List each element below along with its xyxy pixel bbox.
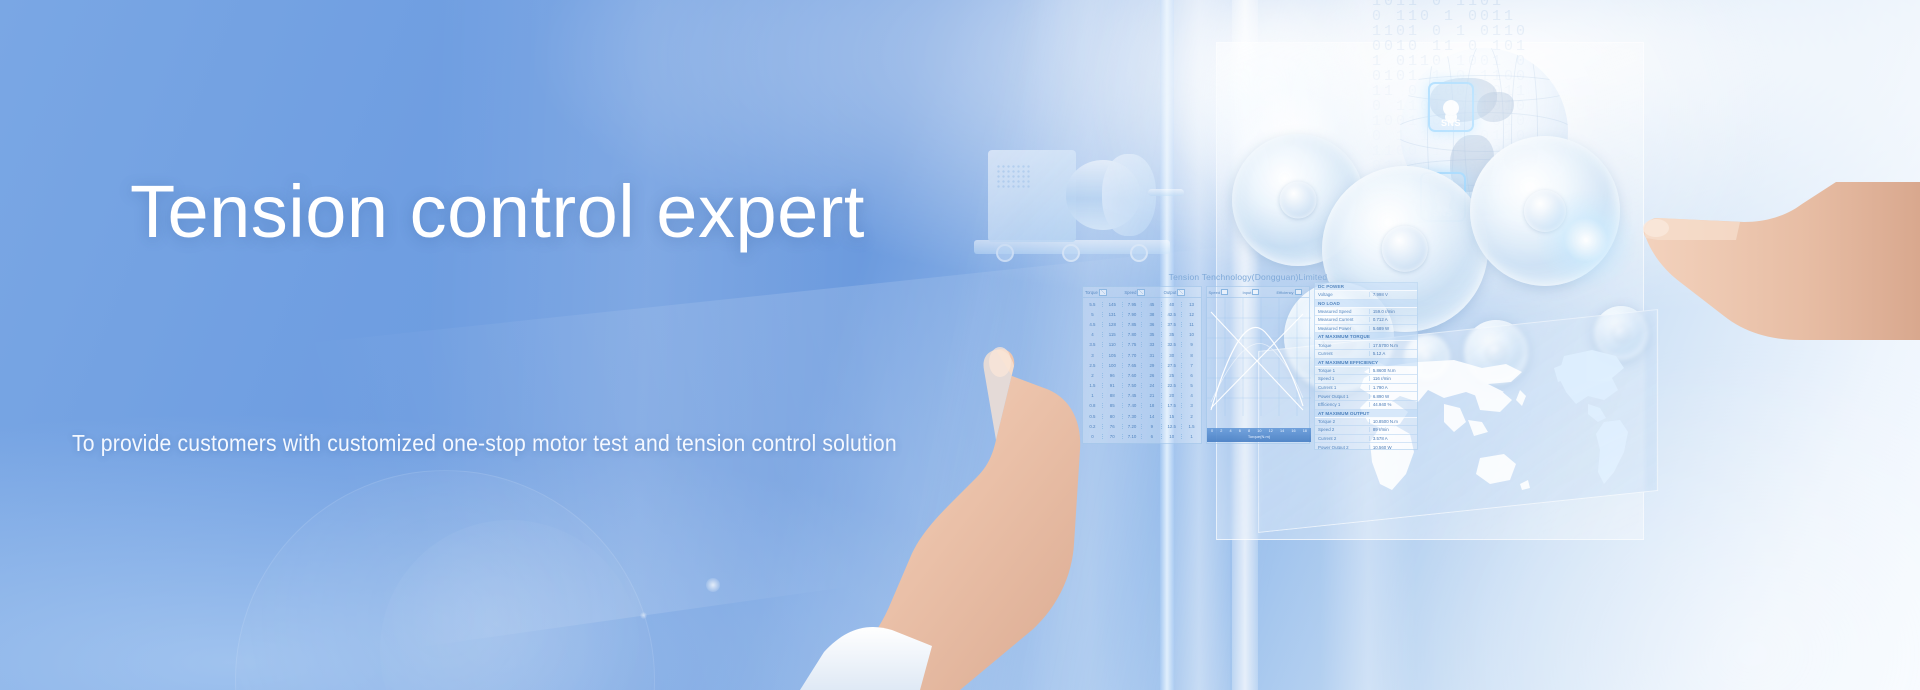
table-cell: 2.5 — [1083, 363, 1103, 368]
readout-key: Power Output 1 — [1315, 394, 1369, 399]
table-cell: 24 — [1142, 383, 1162, 388]
binary-row: 1101 0 1 0110 — [1372, 24, 1612, 39]
table-row: 31057.7031308 — [1083, 350, 1201, 360]
readout-value: 1.790 A — [1369, 385, 1417, 390]
table-cell: 7.65 — [1123, 363, 1143, 368]
table-row: 0.5807.3014152 — [1083, 411, 1201, 421]
readout-row: Current 23.578 A — [1315, 435, 1417, 444]
readout-key: Power Output 2 — [1315, 445, 1369, 450]
table-row: 3.51107.753332.59 — [1083, 340, 1201, 350]
table-cell: 20 — [1162, 393, 1182, 398]
table-cell: 96 — [1103, 373, 1123, 378]
table-cell: 36 — [1142, 322, 1162, 327]
readout-row: Torque 210.8500 N.m — [1315, 418, 1417, 427]
chart-legend-item: Efficiency — [1275, 289, 1309, 295]
table-cell: 13 — [1182, 302, 1201, 307]
readout-key: Measured Speed — [1315, 309, 1369, 314]
chart-x-tick: 0 — [1211, 429, 1213, 433]
readout-section-title: NO LOAD — [1315, 300, 1417, 308]
table-cell: 7.80 — [1123, 332, 1143, 337]
table-row: 0.2767.20912.51.5 — [1083, 421, 1201, 431]
table-cell: 100 — [1103, 363, 1123, 368]
results-readout: DC POWERVoltage7.998 VNO LOADMeasured Sp… — [1314, 282, 1418, 450]
table-cell: 88 — [1103, 393, 1123, 398]
instrument-hud: Tension Tenchnology(Dongguan)Limited Tor… — [1078, 282, 1418, 450]
table-cell: 91 — [1103, 383, 1123, 388]
readout-value: 3.578 A — [1369, 436, 1417, 441]
table-row: 51317.903842.512 — [1083, 309, 1201, 319]
table-cell: 9 — [1142, 424, 1162, 429]
chart-x-tick: 6 — [1239, 429, 1241, 433]
chart-x-tick: 16 — [1291, 429, 1295, 433]
readout-key: Measured Power — [1315, 326, 1369, 331]
readout-value: 5.12 A — [1369, 351, 1417, 356]
readout-row: Power Output 210.560 W — [1315, 443, 1417, 450]
banner-headline: Tension control expert — [130, 175, 865, 249]
readout-value: 89 r/min — [1369, 427, 1417, 432]
readout-section-title: AT MAXIMUM EFFICIENCY — [1315, 359, 1417, 367]
table-cell: 115 — [1103, 332, 1123, 337]
table-row: 4.51287.853637.511 — [1083, 319, 1201, 329]
readout-key: Efficiency 1 — [1315, 402, 1369, 407]
table-cell: 25 — [1162, 373, 1182, 378]
table-cell: 38 — [1142, 312, 1162, 317]
table-cell: 37.5 — [1162, 322, 1182, 327]
banner-copy: Tension control expert To provide custom… — [0, 0, 1100, 690]
table-cell: 0.5 — [1083, 414, 1103, 419]
table-cell: 7 — [1182, 363, 1201, 368]
table-cell: 7.70 — [1123, 353, 1143, 358]
table-cell: 35 — [1142, 332, 1162, 337]
table-cell: 26 — [1142, 373, 1162, 378]
sparkline-icon — [1177, 289, 1185, 296]
binary-row: 0 110 1 0011 — [1372, 9, 1612, 24]
table-cell: 42.5 — [1162, 312, 1182, 317]
table-cell: 105 — [1103, 353, 1123, 358]
table-cell: 30 — [1162, 353, 1182, 358]
readout-section-title: DC POWER — [1315, 283, 1417, 291]
table-cell: 2 — [1182, 414, 1201, 419]
table-cell: 12.5 — [1162, 424, 1182, 429]
readout-value: 0.712 A — [1369, 317, 1417, 322]
readout-value: 10.560 W — [1369, 445, 1417, 450]
banner-subheadline: To provide customers with customized one… — [72, 430, 897, 458]
table-cell: 17.5 — [1162, 403, 1182, 408]
table-cell: 7.60 — [1123, 373, 1143, 378]
sparkline-icon — [1295, 289, 1302, 295]
gear-icon — [1470, 136, 1620, 286]
chart-x-tick: 12 — [1269, 429, 1273, 433]
readout-row: Measured Power5.689 W — [1315, 325, 1417, 334]
table-cell: 7.10 — [1123, 434, 1143, 439]
table-cell: 0.8 — [1083, 403, 1103, 408]
table-cell: 131 — [1103, 312, 1123, 317]
table-cell: 11 — [1182, 322, 1201, 327]
user-icon — [1443, 100, 1459, 116]
readout-key: Voltage — [1315, 292, 1369, 297]
readout-section-title: AT MAXIMUM OUTPUT — [1315, 410, 1417, 418]
table-cell: 10 — [1162, 434, 1182, 439]
sparkline-icon — [1099, 289, 1107, 296]
table-cell: 3 — [1182, 403, 1201, 408]
table-row: 1887.4521204 — [1083, 391, 1201, 401]
table-cell: 7.30 — [1123, 414, 1143, 419]
table-cell: 145 — [1103, 302, 1123, 307]
table-cell: 6 — [1182, 373, 1201, 378]
readout-value: 116 r/min — [1369, 376, 1417, 381]
table-cell: 10 — [1182, 332, 1201, 337]
table-cell: 7.45 — [1123, 393, 1143, 398]
readout-key: Torque — [1315, 343, 1369, 348]
table-cell: 6 — [1142, 434, 1162, 439]
readout-key: Speed 1 — [1315, 376, 1369, 381]
sparkline-icon — [1252, 289, 1259, 295]
table-row: 1.5917.502422.55 — [1083, 381, 1201, 391]
readout-key: Measured Current — [1315, 317, 1369, 322]
readout-value: 7.998 V — [1369, 292, 1417, 297]
table-cell: 22.5 — [1162, 383, 1182, 388]
table-cell: 85 — [1103, 403, 1123, 408]
table-row: 5.51457.95454013 — [1083, 299, 1201, 309]
readout-row: Speed 289 r/min — [1315, 426, 1417, 435]
chart-x-tick: 8 — [1248, 429, 1250, 433]
readout-key: Current 2 — [1315, 436, 1369, 441]
chart-x-tick: 4 — [1230, 429, 1232, 433]
readout-section-title: AT MAXIMUM TORQUE — [1315, 333, 1417, 341]
chart-legend: SpeedInputEfficiency — [1207, 287, 1309, 298]
table-cell: 0.2 — [1083, 424, 1103, 429]
table-cell: 1 — [1182, 434, 1201, 439]
table-cell: 0 — [1083, 434, 1103, 439]
table-cell: 29 — [1142, 363, 1162, 368]
table-cell: 15 — [1162, 414, 1182, 419]
binary-row: 1011 0 1101 — [1372, 0, 1612, 9]
table-cell: 7.50 — [1123, 383, 1143, 388]
table-cell: 5 — [1182, 383, 1201, 388]
chart-legend-item: Speed — [1207, 289, 1241, 295]
table-cell: 4 — [1182, 393, 1201, 398]
table-cell: 7.40 — [1123, 403, 1143, 408]
readout-key: Torque 2 — [1315, 419, 1369, 424]
readout-key: Current — [1315, 351, 1369, 356]
table-cell: 3.5 — [1083, 342, 1103, 347]
table-cell: 40 — [1162, 302, 1182, 307]
table-cell: 7.20 — [1123, 424, 1143, 429]
table-cell: 1.5 — [1083, 383, 1103, 388]
chart-x-label: Torque(N.m) — [1207, 434, 1311, 439]
table-cell: 1.5 — [1182, 424, 1201, 429]
sparkline-icon — [1137, 289, 1145, 296]
readout-key: Torque 1 — [1315, 368, 1369, 373]
measurement-table-header: TorqueSpeedOutput — [1083, 287, 1201, 298]
chart-x-tick: 10 — [1257, 429, 1261, 433]
chart-x-tick: 2 — [1220, 429, 1222, 433]
table-cell: 31 — [1142, 353, 1162, 358]
table-cell: 7.90 — [1123, 312, 1143, 317]
table-cell: 76 — [1103, 424, 1123, 429]
table-cell: 7.85 — [1123, 322, 1143, 327]
table-cell: 110 — [1103, 342, 1123, 347]
table-cell: 8 — [1182, 353, 1201, 358]
readout-row: Measured Speed159.0 r/min — [1315, 308, 1417, 317]
technology-collage: 1011 0 11010 110 1 00111101 0 1 01100010… — [1020, 0, 1920, 690]
table-cell: 7.95 — [1123, 302, 1143, 307]
table-cell: 7.75 — [1123, 342, 1143, 347]
table-cell: 70 — [1103, 434, 1123, 439]
table-cell: 4 — [1083, 332, 1103, 337]
hud-title: Tension Tenchnology(Dongguan)Limited — [1078, 272, 1418, 282]
readout-row: Efficiency 144.940 % — [1315, 401, 1417, 410]
measurement-column-header: Torque — [1083, 289, 1122, 296]
table-cell: 2 — [1083, 373, 1103, 378]
chart-x-tick: 14 — [1280, 429, 1284, 433]
readout-row: Torque17.5700 N.m — [1315, 341, 1417, 350]
readout-row: Power Output 16.890 W — [1315, 392, 1417, 401]
readout-value: 5.689 W — [1369, 326, 1417, 331]
performance-chart: SpeedInputEfficiency — [1206, 286, 1310, 444]
measurement-table-body: 5.51457.9545401351317.903842.5124.51287.… — [1083, 298, 1201, 443]
motor-test-machine-illustration — [970, 120, 1190, 260]
readout-row: Current 11.790 A — [1315, 384, 1417, 393]
table-cell: 1 — [1083, 393, 1103, 398]
table-cell: 35 — [1162, 332, 1182, 337]
measurement-column-header: Speed — [1122, 289, 1161, 296]
table-cell: 12 — [1182, 312, 1201, 317]
table-row: 0707.106101 — [1083, 431, 1201, 441]
table-row: 0.8857.401817.53 — [1083, 401, 1201, 411]
readout-key: Current 1 — [1315, 385, 1369, 390]
readout-row: Speed 1116 r/min — [1315, 375, 1417, 384]
table-cell: 4.5 — [1083, 322, 1103, 327]
readout-row: Voltage7.998 V — [1315, 291, 1417, 300]
table-row: 41157.80353510 — [1083, 330, 1201, 340]
chart-legend-item: Input — [1241, 289, 1275, 295]
table-cell: 3 — [1083, 353, 1103, 358]
table-cell: 5 — [1083, 312, 1103, 317]
chart-plot-area — [1207, 298, 1311, 430]
table-cell: 33 — [1142, 342, 1162, 347]
sparkline-icon — [1221, 289, 1228, 295]
table-cell: 27.5 — [1162, 363, 1182, 368]
chart-x-tick: 18 — [1303, 429, 1307, 433]
table-cell: 9 — [1182, 342, 1201, 347]
readout-value: 159.0 r/min — [1369, 309, 1417, 314]
readout-value: 6.890 W — [1369, 394, 1417, 399]
table-cell: 128 — [1103, 322, 1123, 327]
table-cell: 18 — [1142, 403, 1162, 408]
table-cell: 45 — [1142, 302, 1162, 307]
measurement-column-header: Output — [1162, 289, 1201, 296]
readout-row: Measured Current0.712 A — [1315, 316, 1417, 325]
table-cell: 21 — [1142, 393, 1162, 398]
table-cell: 80 — [1103, 414, 1123, 419]
table-cell: 32.5 — [1162, 342, 1182, 347]
measurement-table: TorqueSpeedOutput 5.51457.9545401351317.… — [1082, 286, 1202, 444]
readout-value: 17.5700 N.m — [1369, 343, 1417, 348]
table-row: 2.51007.652927.57 — [1083, 360, 1201, 370]
table-row: 2967.6026256 — [1083, 370, 1201, 380]
hero-banner: Tension control expert To provide custom… — [0, 0, 1920, 690]
table-cell: 5.5 — [1083, 302, 1103, 307]
chart-x-axis: 024681012141618 Torque(N.m) — [1207, 428, 1311, 442]
readout-row: Torque 15.8600 N.m — [1315, 367, 1417, 376]
table-cell: 14 — [1142, 414, 1162, 419]
readout-value: 44.940 % — [1369, 402, 1417, 407]
readout-row: Current5.12 A — [1315, 350, 1417, 359]
readout-key: Speed 2 — [1315, 427, 1369, 432]
chart-x-ticks: 024681012141618 — [1207, 428, 1311, 433]
readout-value: 5.8600 N.m — [1369, 368, 1417, 373]
readout-value: 10.8500 N.m — [1369, 419, 1417, 424]
